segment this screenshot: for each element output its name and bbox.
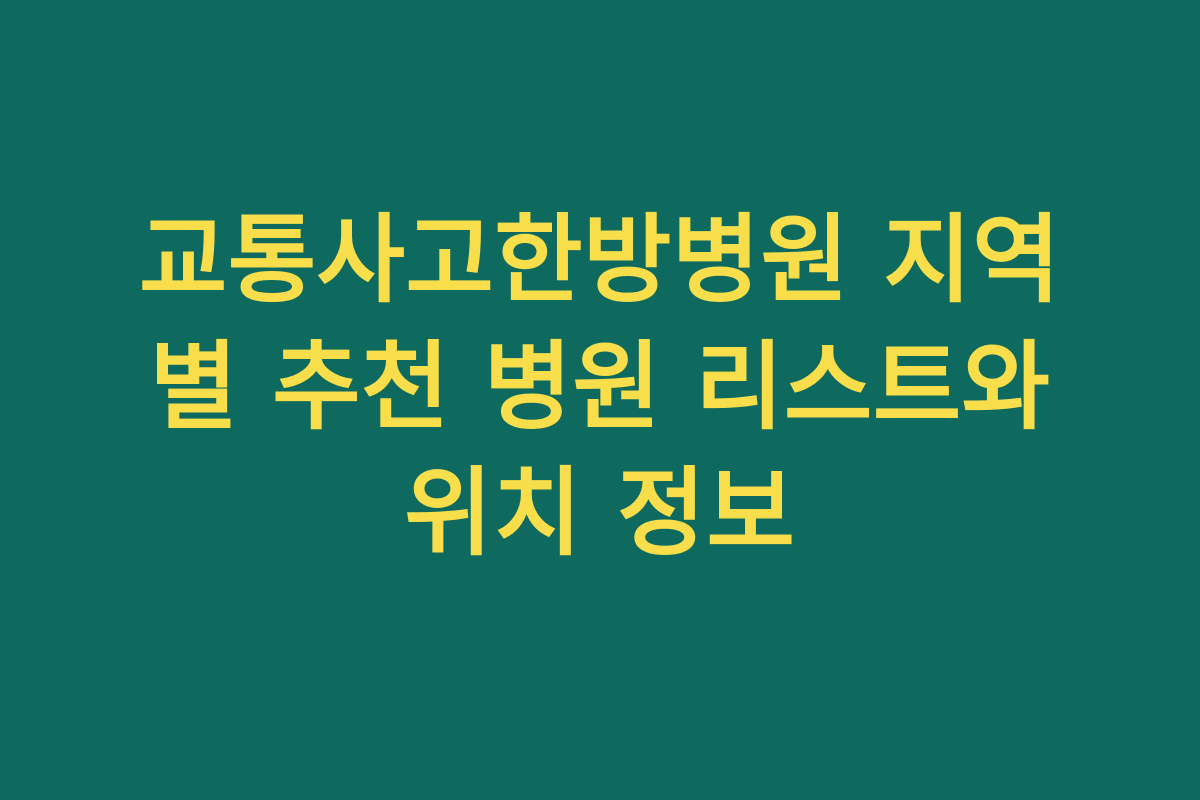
title-line-2: 별 추천 병원 리스트와 xyxy=(100,324,1100,451)
title-line-1: 교통사고한방병원 지역 xyxy=(100,197,1100,324)
title-card: 교통사고한방병원 지역 별 추천 병원 리스트와 위치 정보 xyxy=(0,0,1200,800)
title-block: 교통사고한방병원 지역 별 추천 병원 리스트와 위치 정보 xyxy=(100,197,1100,577)
title-line-3: 위치 정보 xyxy=(100,450,1100,577)
